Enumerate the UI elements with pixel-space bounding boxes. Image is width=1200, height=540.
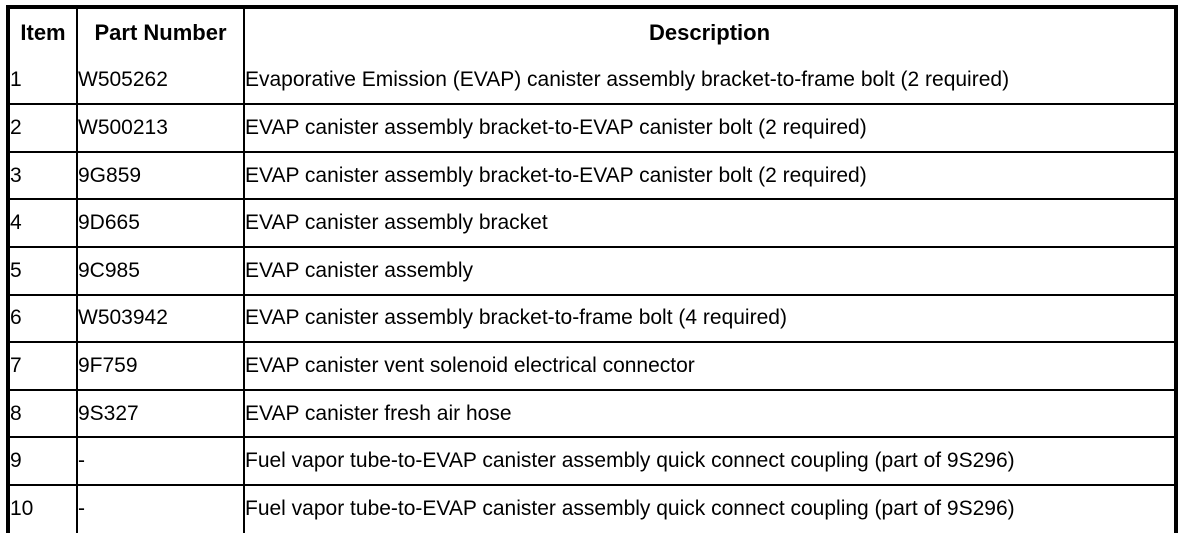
column-header-part-number: Part Number [77,9,244,57]
cell-part-number: 9C985 [77,247,244,295]
cell-description: EVAP canister assembly bracket-to-EVAP c… [244,152,1174,200]
cell-item: 6 [10,295,77,343]
cell-description: EVAP canister assembly bracket [244,199,1174,247]
cell-item: 7 [10,342,77,390]
cell-part-number: W503942 [77,295,244,343]
cell-item: 1 [10,57,77,105]
table-row: 7 9F759 EVAP canister vent solenoid elec… [10,342,1174,390]
page-root: Item Part Number Description 1 W505262 E… [0,0,1200,540]
column-header-item: Item [10,9,77,57]
table-row: 9 - Fuel vapor tube-to-EVAP canister ass… [10,437,1174,485]
cell-item: 8 [10,390,77,438]
cell-description: Fuel vapor tube-to-EVAP canister assembl… [244,437,1174,485]
cell-item: 4 [10,199,77,247]
table-header: Item Part Number Description [10,9,1174,57]
parts-table: Item Part Number Description 1 W505262 E… [10,9,1174,533]
cell-item: 2 [10,104,77,152]
table-row: 3 9G859 EVAP canister assembly bracket-t… [10,152,1174,200]
cell-description: Fuel vapor tube-to-EVAP canister assembl… [244,485,1174,533]
cell-description: EVAP canister assembly [244,247,1174,295]
table-row: 4 9D665 EVAP canister assembly bracket [10,199,1174,247]
parts-table-container: Item Part Number Description 1 W505262 E… [6,5,1178,533]
cell-item: 10 [10,485,77,533]
cell-description: Evaporative Emission (EVAP) canister ass… [244,57,1174,105]
cell-part-number: 9G859 [77,152,244,200]
cell-part-number: 9F759 [77,342,244,390]
cell-part-number: 9S327 [77,390,244,438]
table-row: 5 9C985 EVAP canister assembly [10,247,1174,295]
cell-part-number: W500213 [77,104,244,152]
cell-item: 5 [10,247,77,295]
table-row: 8 9S327 EVAP canister fresh air hose [10,390,1174,438]
cell-description: EVAP canister assembly bracket-to-EVAP c… [244,104,1174,152]
table-row: 1 W505262 Evaporative Emission (EVAP) ca… [10,57,1174,105]
cell-part-number: W505262 [77,57,244,105]
table-body: 1 W505262 Evaporative Emission (EVAP) ca… [10,57,1174,533]
cell-part-number: - [77,485,244,533]
table-row: 6 W503942 EVAP canister assembly bracket… [10,295,1174,343]
cell-item: 9 [10,437,77,485]
cell-part-number: 9D665 [77,199,244,247]
table-row: 10 - Fuel vapor tube-to-EVAP canister as… [10,485,1174,533]
column-header-description: Description [244,9,1174,57]
cell-part-number: - [77,437,244,485]
cell-description: EVAP canister assembly bracket-to-frame … [244,295,1174,343]
table-row: 2 W500213 EVAP canister assembly bracket… [10,104,1174,152]
table-header-row: Item Part Number Description [10,9,1174,57]
cell-description: EVAP canister fresh air hose [244,390,1174,438]
cell-description: EVAP canister vent solenoid electrical c… [244,342,1174,390]
cell-item: 3 [10,152,77,200]
